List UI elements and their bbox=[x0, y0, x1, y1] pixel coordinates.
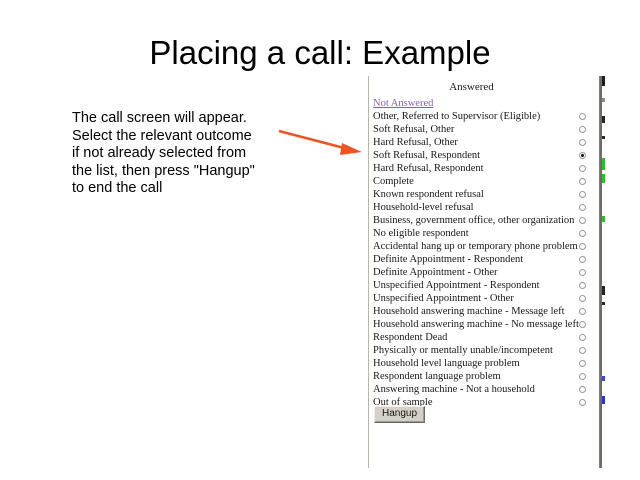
outcome-radio-button[interactable] bbox=[579, 347, 586, 354]
outcome-radio-button[interactable] bbox=[579, 126, 586, 133]
outcome-option-row[interactable]: Household-level refusal bbox=[369, 201, 600, 214]
outcome-radio-button[interactable] bbox=[579, 282, 586, 289]
outcome-radio-button[interactable] bbox=[579, 360, 586, 367]
outcome-option-label: Household level language problem bbox=[373, 357, 520, 370]
outcome-radio-button[interactable] bbox=[579, 295, 586, 302]
instruction-line: if not already selected from bbox=[72, 145, 278, 163]
outcome-option-list[interactable]: Not AnsweredOther, Referred to Superviso… bbox=[369, 97, 600, 409]
outcome-option-row[interactable]: Hard Refusal, Other bbox=[369, 136, 600, 149]
outcome-radio-button[interactable] bbox=[579, 230, 586, 237]
sliver-mark bbox=[602, 76, 605, 86]
outcome-option-row[interactable]: Hard Refusal, Respondent bbox=[369, 162, 600, 175]
outcome-option-row[interactable]: Definite Appointment - Respondent bbox=[369, 253, 600, 266]
outcome-option-label: Answering machine - Not a household bbox=[373, 383, 535, 396]
outcome-radio-button[interactable] bbox=[579, 308, 586, 315]
sliver-mark bbox=[602, 158, 605, 170]
outcome-option-row[interactable]: Soft Refusal, Other bbox=[369, 123, 600, 136]
outcome-option-label: No eligible respondent bbox=[373, 227, 469, 240]
outcome-option-label: Unspecified Appointment - Respondent bbox=[373, 279, 540, 292]
sliver-mark bbox=[602, 302, 605, 305]
outcome-radio-button[interactable] bbox=[579, 217, 586, 224]
pointer-arrow-icon bbox=[276, 124, 368, 162]
outcome-radio-button[interactable] bbox=[579, 178, 586, 185]
sliver-mark bbox=[602, 286, 605, 295]
outcome-option-row[interactable]: Physically or mentally unable/incompeten… bbox=[369, 344, 600, 357]
outcome-option-row[interactable]: Accidental hang up or temporary phone pr… bbox=[369, 240, 600, 253]
outcome-option-label: Household-level refusal bbox=[373, 201, 474, 214]
outcome-option-row[interactable]: Answering machine - Not a household bbox=[369, 383, 600, 396]
not-answered-link[interactable]: Not Answered bbox=[373, 97, 433, 110]
outcome-radio-button[interactable] bbox=[579, 139, 586, 146]
instruction-line: The call screen will appear. bbox=[72, 110, 278, 128]
outcome-option-row[interactable]: Household answering machine - Message le… bbox=[369, 305, 600, 318]
outcome-option-label: Respondent language problem bbox=[373, 370, 501, 383]
outcome-option-row[interactable]: Complete bbox=[369, 175, 600, 188]
outcome-option-row[interactable]: Known respondent refusal bbox=[369, 188, 600, 201]
outcome-option-label: Soft Refusal, Respondent bbox=[373, 149, 480, 162]
outcome-option-label: Complete bbox=[373, 175, 414, 188]
call-outcome-panel: Answered Not AnsweredOther, Referred to … bbox=[368, 76, 600, 468]
outcome-option-label: Hard Refusal, Respondent bbox=[373, 162, 484, 175]
outcome-radio-button[interactable] bbox=[579, 399, 586, 406]
outcome-option-label: Business, government office, other organ… bbox=[373, 214, 574, 227]
instruction-line: Select the relevant outcome bbox=[72, 128, 278, 146]
page-title: Placing a call: Example bbox=[0, 34, 640, 72]
outcome-option-row[interactable]: Respondent Dead bbox=[369, 331, 600, 344]
outcome-radio-button[interactable] bbox=[579, 256, 586, 263]
outcome-option-row[interactable]: Definite Appointment - Other bbox=[369, 266, 600, 279]
outcome-radio-button[interactable] bbox=[579, 386, 586, 393]
sliver-mark bbox=[602, 136, 605, 139]
outcome-option-label: Hard Refusal, Other bbox=[373, 136, 458, 149]
outcome-option-row[interactable]: Soft Refusal, Respondent bbox=[369, 149, 600, 162]
outcome-radio-button[interactable] bbox=[579, 191, 586, 198]
outcome-option-label: Physically or mentally unable/incompeten… bbox=[373, 344, 553, 357]
sliver-mark bbox=[602, 174, 605, 183]
not-answered-link-row[interactable]: Not Answered bbox=[369, 97, 600, 110]
outcome-option-row[interactable]: Household answering machine - No message… bbox=[369, 318, 600, 331]
outcome-option-label: Definite Appointment - Respondent bbox=[373, 253, 523, 266]
instruction-line: the list, then press "Hangup" bbox=[72, 163, 278, 181]
sliver-mark bbox=[602, 396, 605, 404]
outcome-option-label: Definite Appointment - Other bbox=[373, 266, 498, 279]
outcome-option-row[interactable]: Business, government office, other organ… bbox=[369, 214, 600, 227]
outcome-option-label: Household answering machine - Message le… bbox=[373, 305, 565, 318]
outcome-option-label: Soft Refusal, Other bbox=[373, 123, 454, 136]
outcome-option-row[interactable]: Unspecified Appointment - Other bbox=[369, 292, 600, 305]
sliver-mark bbox=[602, 216, 605, 222]
outcome-radio-button[interactable] bbox=[579, 204, 586, 211]
outcome-radio-button[interactable] bbox=[579, 334, 586, 341]
outcome-radio-button[interactable] bbox=[579, 373, 586, 380]
outcome-option-row[interactable]: Household level language problem bbox=[369, 357, 600, 370]
outcome-option-row[interactable]: No eligible respondent bbox=[369, 227, 600, 240]
outcome-radio-button[interactable] bbox=[579, 321, 586, 328]
outcome-radio-button[interactable] bbox=[579, 165, 586, 172]
sliver-mark bbox=[602, 116, 605, 123]
outcome-option-label: Known respondent refusal bbox=[373, 188, 484, 201]
outcome-option-label: Other, Referred to Supervisor (Eligible) bbox=[373, 110, 540, 123]
outcome-radio-button[interactable] bbox=[579, 269, 586, 276]
background-window-sliver bbox=[600, 76, 606, 468]
sliver-mark bbox=[602, 376, 605, 381]
hangup-button[interactable]: Hangup bbox=[374, 406, 425, 423]
outcome-option-label: Respondent Dead bbox=[373, 331, 447, 344]
instruction-callout: The call screen will appear. Select the … bbox=[72, 110, 278, 198]
outcome-option-row[interactable]: Unspecified Appointment - Respondent bbox=[369, 279, 600, 292]
instruction-line: to end the call bbox=[72, 180, 278, 198]
outcome-option-label: Accidental hang up or temporary phone pr… bbox=[373, 240, 578, 253]
outcome-radio-button[interactable] bbox=[579, 152, 586, 159]
outcome-option-row[interactable]: Respondent language problem bbox=[369, 370, 600, 383]
outcome-radio-button[interactable] bbox=[579, 243, 586, 250]
sliver-mark bbox=[602, 98, 605, 102]
outcome-option-label: Household answering machine - No message… bbox=[373, 318, 579, 331]
answered-header-label: Answered bbox=[369, 81, 574, 93]
outcome-option-row[interactable]: Other, Referred to Supervisor (Eligible) bbox=[369, 110, 600, 123]
outcome-option-label: Unspecified Appointment - Other bbox=[373, 292, 514, 305]
outcome-radio-button[interactable] bbox=[579, 113, 586, 120]
